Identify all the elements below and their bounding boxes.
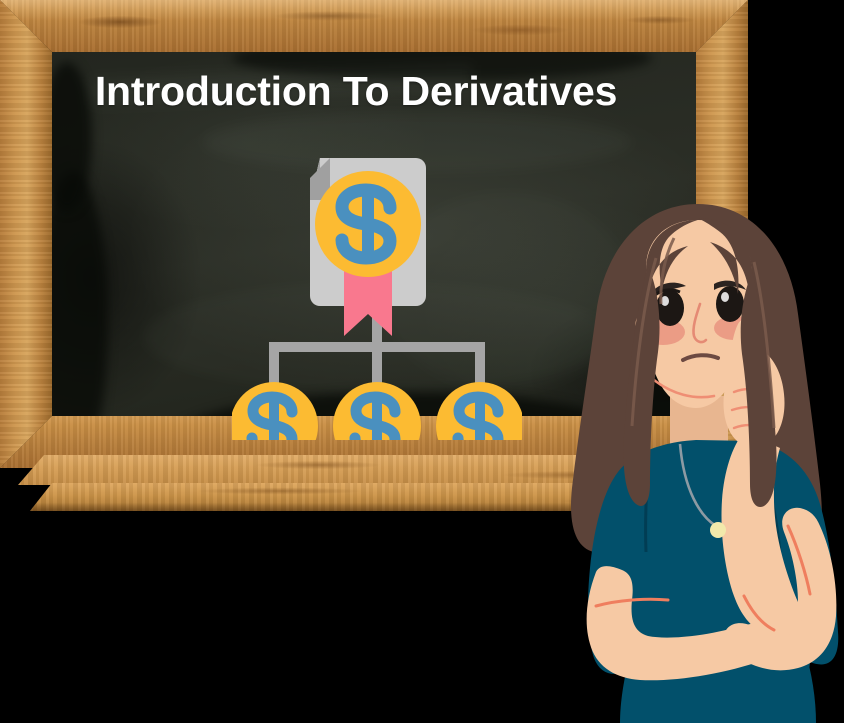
child-coin-3 xyxy=(436,382,522,440)
necklace-pendant xyxy=(710,522,726,538)
derivatives-diagram xyxy=(232,140,522,440)
scene-root: Introduction To Derivatives xyxy=(0,0,844,723)
thinking-woman-illustration xyxy=(548,196,844,723)
page-title: Introduction To Derivatives xyxy=(52,68,696,115)
seal-coin xyxy=(315,171,421,277)
child-coin-1 xyxy=(232,382,318,440)
frame-plank-left xyxy=(0,0,52,468)
eye-right xyxy=(716,286,744,322)
child-coin-2 xyxy=(333,382,421,440)
frame-plank-top xyxy=(0,0,748,52)
dollar-sign-icon xyxy=(342,188,390,260)
